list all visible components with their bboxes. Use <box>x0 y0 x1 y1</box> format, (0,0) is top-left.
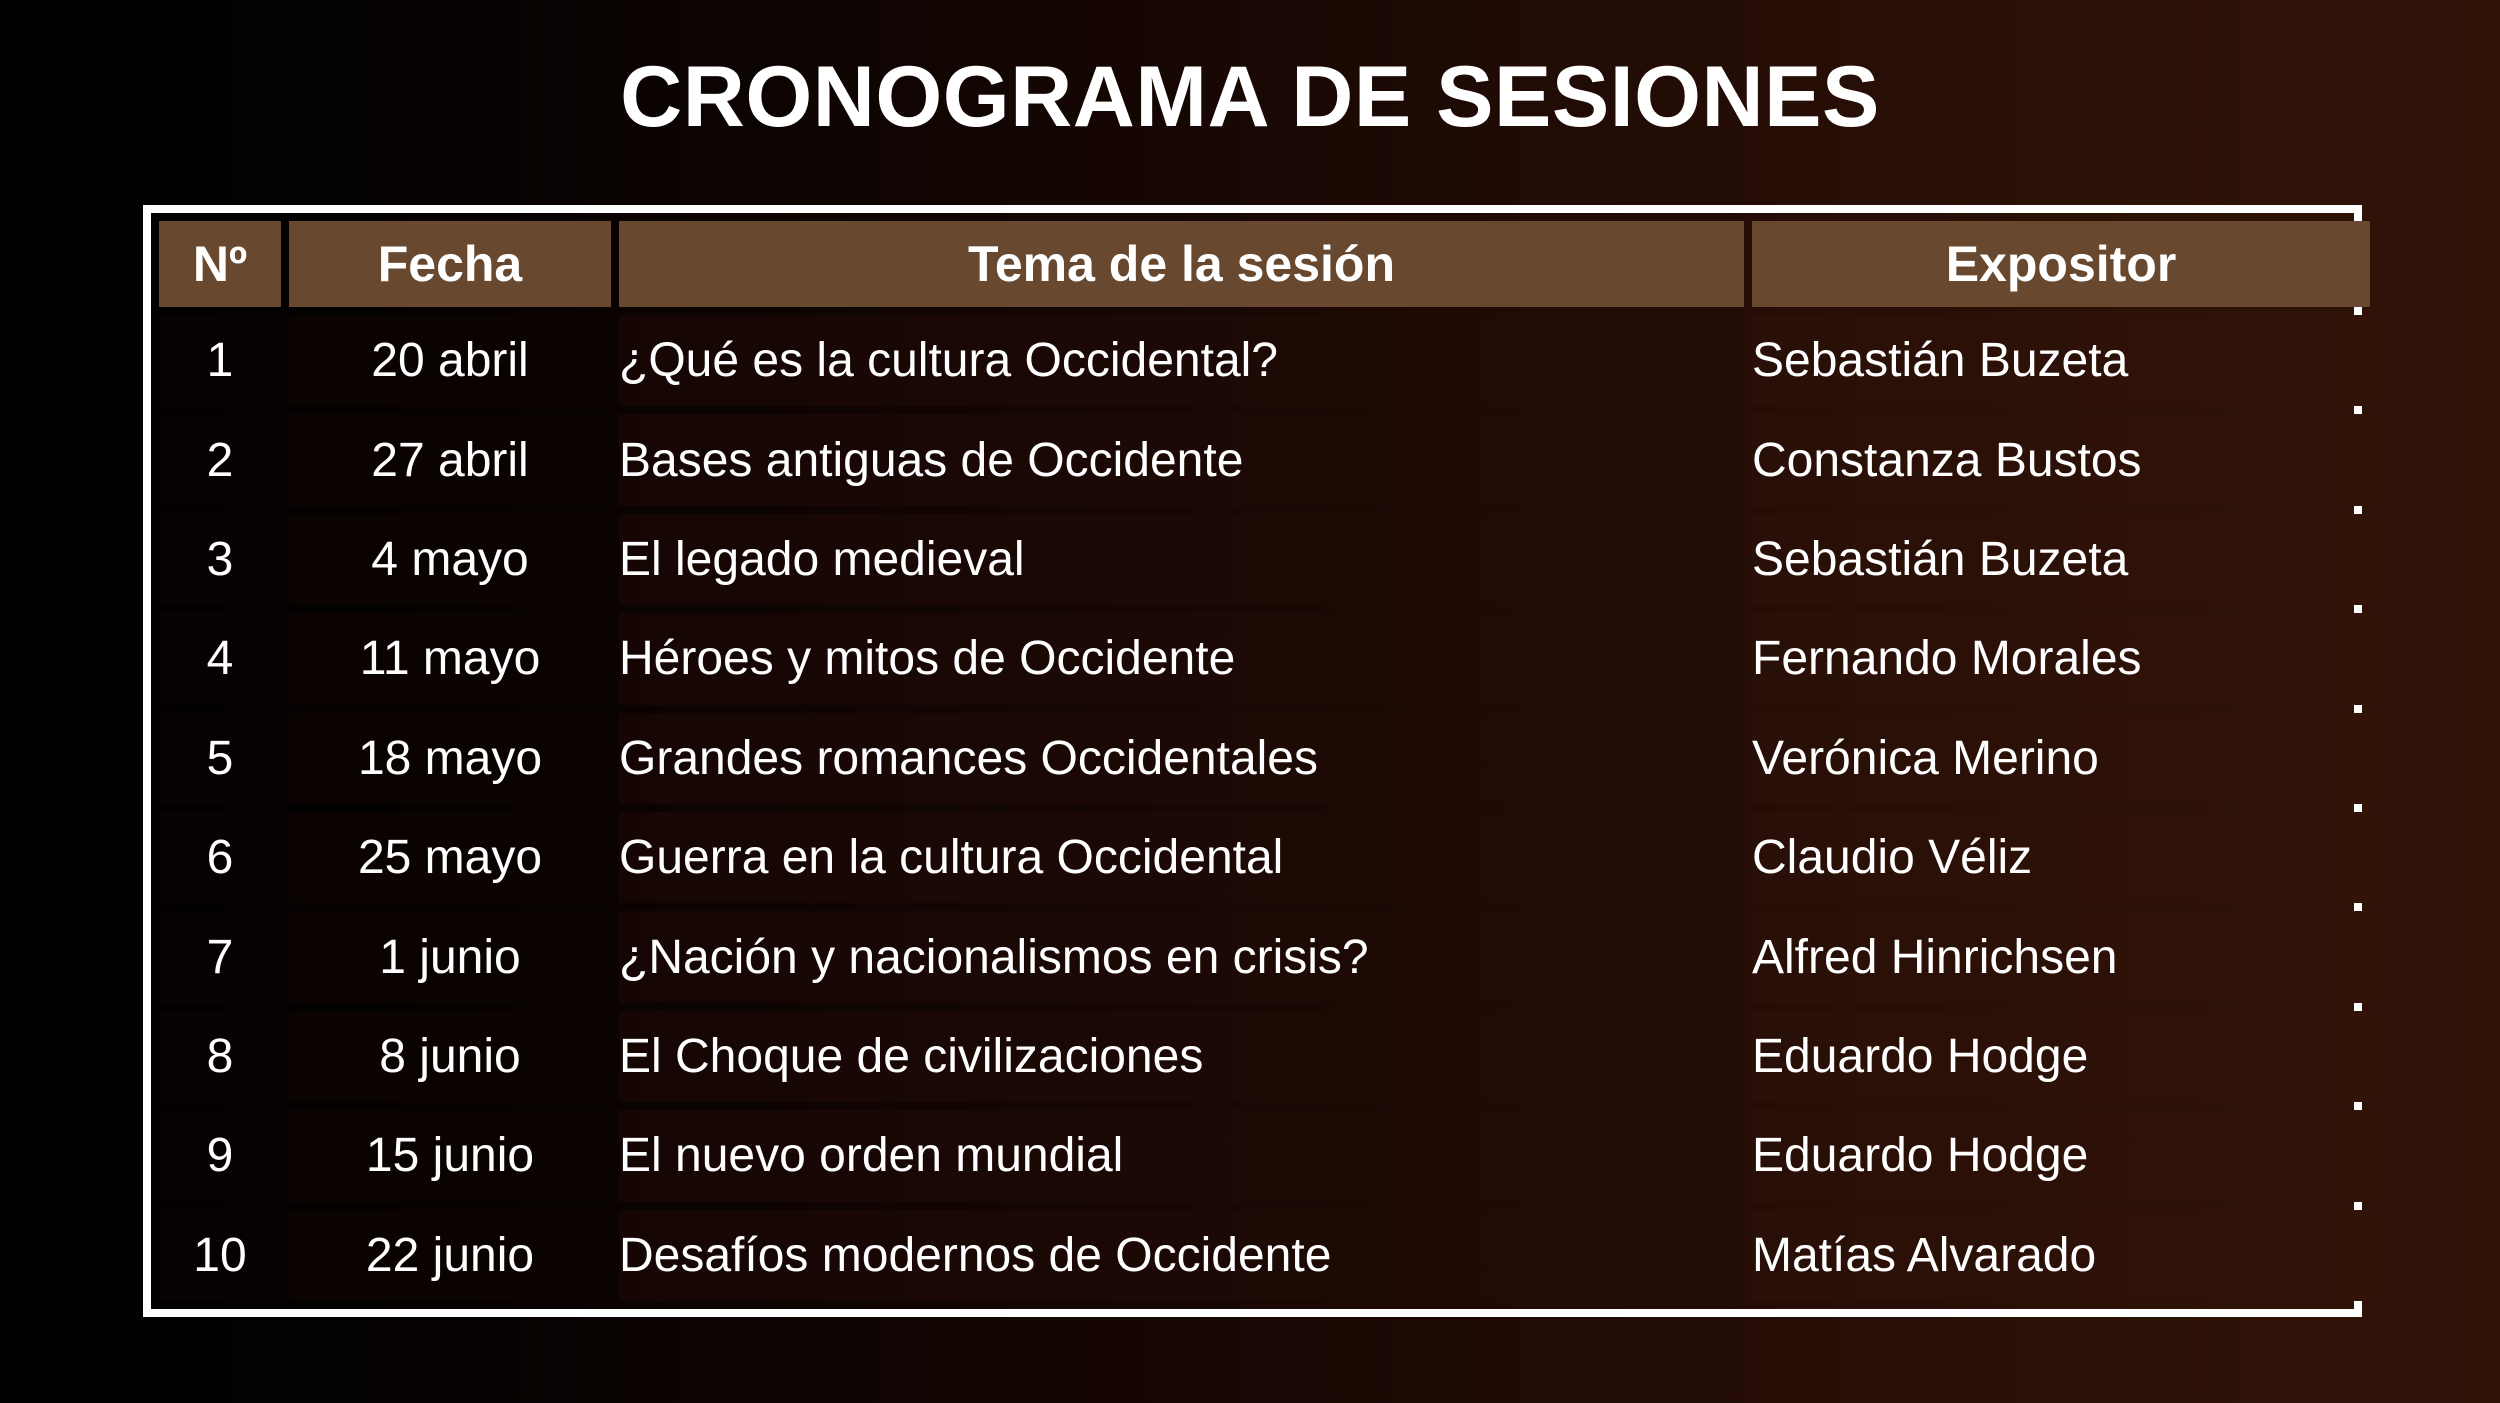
table-header: Nº Fecha Tema de la sesión Expositor <box>159 221 2370 307</box>
cell-expositor: Constanza Bustos <box>1752 414 2370 505</box>
cell-tema: Guerra en la cultura Occidental <box>619 812 1744 903</box>
cell-tema: El legado medieval <box>619 514 1744 605</box>
cell-tema: Grandes romances Occidentales <box>619 713 1744 804</box>
cell-numero: 4 <box>159 613 281 704</box>
cell-numero: 3 <box>159 514 281 605</box>
cell-fecha: 15 junio <box>289 1110 611 1201</box>
cell-expositor: Alfred Hinrichsen <box>1752 911 2370 1002</box>
column-header-fecha: Fecha <box>289 221 611 307</box>
schedule-table: Nº Fecha Tema de la sesión Expositor 120… <box>151 213 2378 1309</box>
cell-expositor: Eduardo Hodge <box>1752 1110 2370 1201</box>
cell-numero: 5 <box>159 713 281 804</box>
cell-numero: 10 <box>159 1210 281 1301</box>
cell-fecha: 1 junio <box>289 911 611 1002</box>
table-row: 227 abrilBases antiguas de OccidenteCons… <box>159 414 2370 505</box>
cell-expositor: Eduardo Hodge <box>1752 1011 2370 1102</box>
cell-expositor: Verónica Merino <box>1752 713 2370 804</box>
table-row: 34 mayoEl legado medievalSebastián Buzet… <box>159 514 2370 605</box>
cell-numero: 1 <box>159 315 281 406</box>
cell-expositor: Fernando Morales <box>1752 613 2370 704</box>
table-row: 411 mayoHéroes y mitos de OccidenteFerna… <box>159 613 2370 704</box>
cell-fecha: 20 abril <box>289 315 611 406</box>
cell-tema: El nuevo orden mundial <box>619 1110 1744 1201</box>
table-row: 88 junioEl Choque de civilizacionesEduar… <box>159 1011 2370 1102</box>
column-header-expositor: Expositor <box>1752 221 2370 307</box>
table-row: 1022 junioDesafíos modernos de Occidente… <box>159 1210 2370 1301</box>
cell-tema: El Choque de civilizaciones <box>619 1011 1744 1102</box>
cell-tema: Desafíos modernos de Occidente <box>619 1210 1744 1301</box>
cell-expositor: Matías Alvarado <box>1752 1210 2370 1301</box>
column-header-tema: Tema de la sesión <box>619 221 1744 307</box>
cell-numero: 9 <box>159 1110 281 1201</box>
cell-expositor: Sebastián Buzeta <box>1752 514 2370 605</box>
cell-fecha: 8 junio <box>289 1011 611 1102</box>
table-row: 915 junioEl nuevo orden mundialEduardo H… <box>159 1110 2370 1201</box>
cell-numero: 8 <box>159 1011 281 1102</box>
cell-tema: Bases antiguas de Occidente <box>619 414 1744 505</box>
cell-fecha: 18 mayo <box>289 713 611 804</box>
cell-numero: 7 <box>159 911 281 1002</box>
table-row: 518 mayoGrandes romances OccidentalesVer… <box>159 713 2370 804</box>
header-row: Nº Fecha Tema de la sesión Expositor <box>159 221 2370 307</box>
cell-expositor: Sebastián Buzeta <box>1752 315 2370 406</box>
cell-numero: 2 <box>159 414 281 505</box>
table-row: 71 junio¿Nación y nacionalismos en crisi… <box>159 911 2370 1002</box>
cell-tema: ¿Qué es la cultura Occidental? <box>619 315 1744 406</box>
cell-fecha: 27 abril <box>289 414 611 505</box>
column-header-numero: Nº <box>159 221 281 307</box>
cell-fecha: 22 junio <box>289 1210 611 1301</box>
table-body: 120 abril¿Qué es la cultura Occidental?S… <box>159 315 2370 1301</box>
table-row: 120 abril¿Qué es la cultura Occidental?S… <box>159 315 2370 406</box>
page-title: CRONOGRAMA DE SESIONES <box>0 52 2500 142</box>
cell-fecha: 25 mayo <box>289 812 611 903</box>
cell-tema: ¿Nación y nacionalismos en crisis? <box>619 911 1744 1002</box>
table-row: 625 mayoGuerra en la cultura OccidentalC… <box>159 812 2370 903</box>
cell-numero: 6 <box>159 812 281 903</box>
cell-fecha: 11 mayo <box>289 613 611 704</box>
cell-expositor: Claudio Véliz <box>1752 812 2370 903</box>
schedule-table-frame: Nº Fecha Tema de la sesión Expositor 120… <box>143 205 2362 1317</box>
cell-tema: Héroes y mitos de Occidente <box>619 613 1744 704</box>
cell-fecha: 4 mayo <box>289 514 611 605</box>
slide-canvas: CRONOGRAMA DE SESIONES Nº Fecha Tema de … <box>0 0 2500 1403</box>
